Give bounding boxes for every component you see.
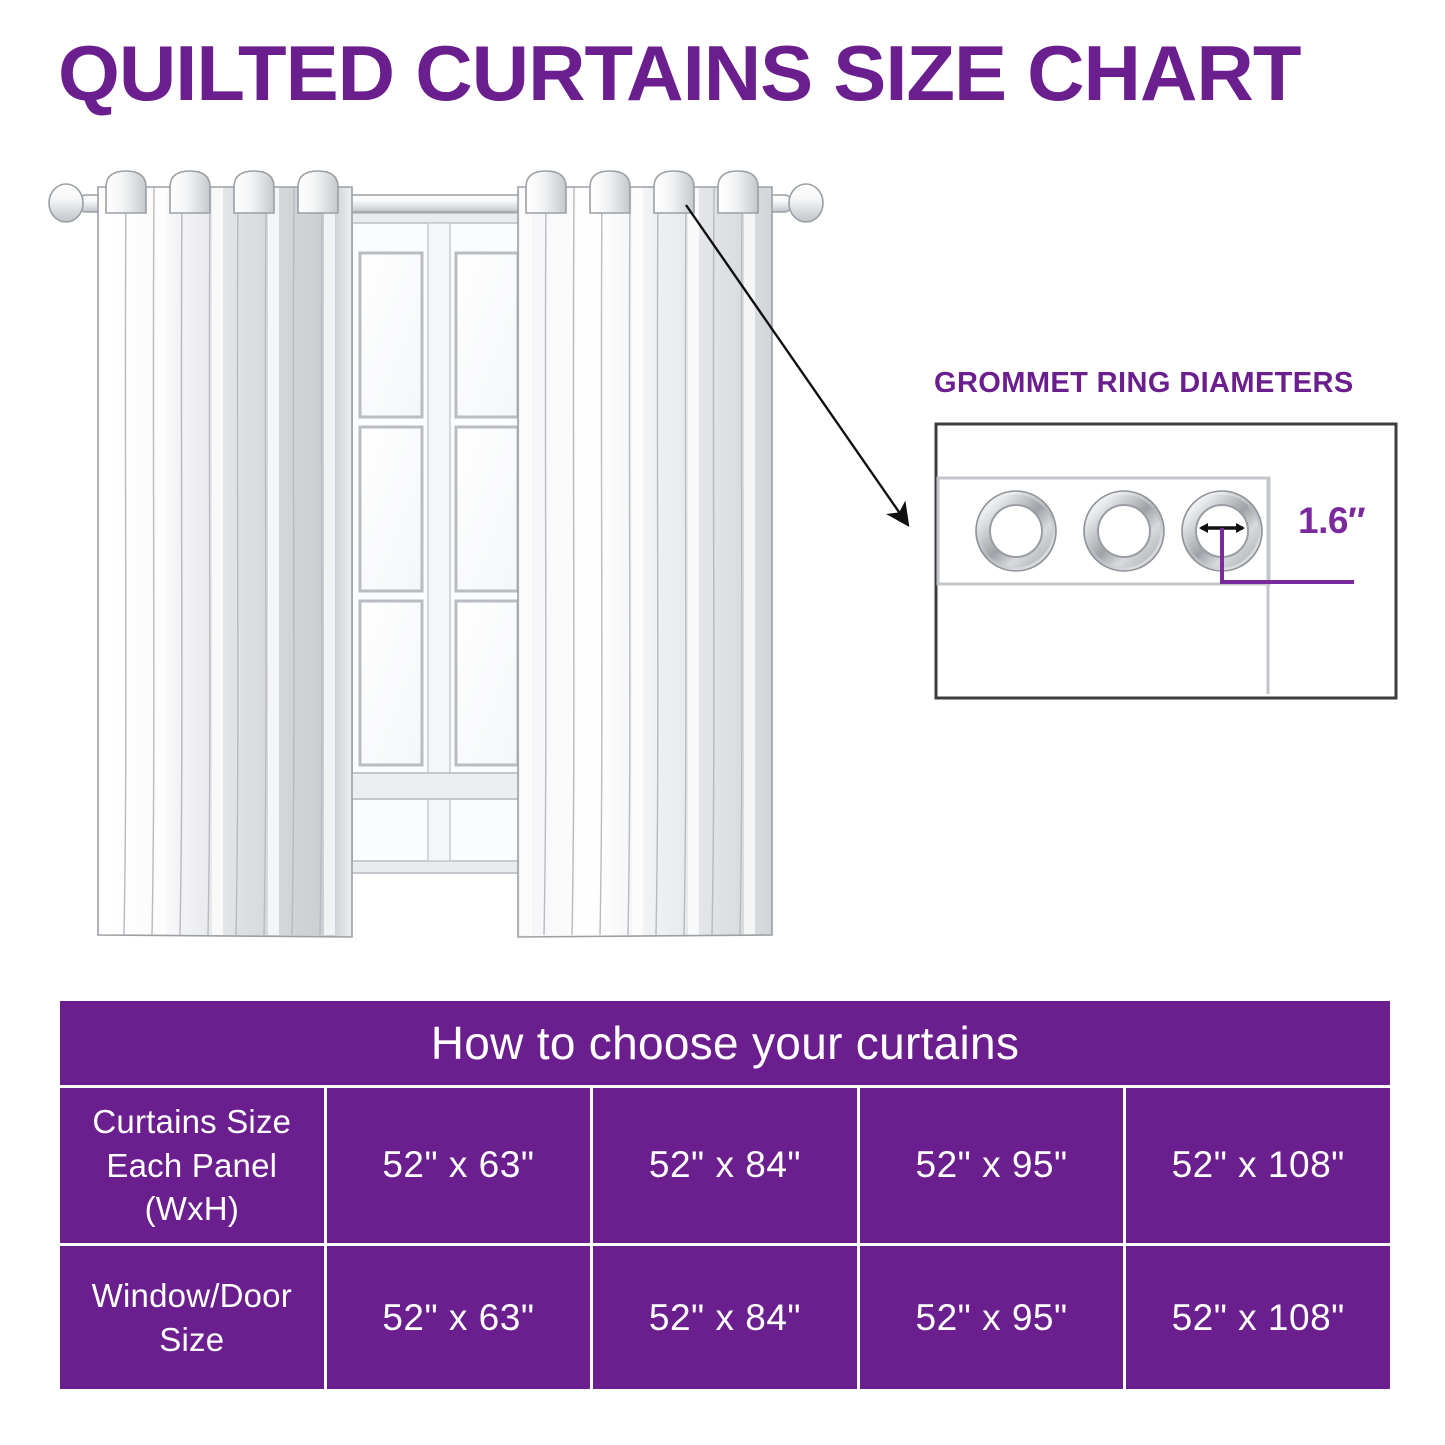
size-chart-table: How to choose your curtains Curtains Siz…: [57, 998, 1393, 1392]
grommet-ring-2: [1084, 491, 1164, 571]
cell-window-size-2: 52" x 84": [593, 1246, 857, 1389]
grommet-section-title: GROMMET RING DIAMETERS: [934, 367, 1354, 400]
window-graphic: [340, 213, 536, 873]
grommet-ring-1: [976, 491, 1056, 571]
table-row: Curtains Size Each Panel (WxH) 52" x 63"…: [60, 1088, 1390, 1243]
grommet-diameter-label: 1.6″: [1298, 500, 1365, 542]
grommet-diagram: [934, 422, 1398, 700]
cell-window-size-3: 52" x 95": [860, 1246, 1124, 1389]
cell-window-size-4: 52" x 108": [1126, 1246, 1390, 1389]
row-label-line: Size: [60, 1318, 324, 1362]
cell-curtain-size-2: 52" x 84": [593, 1088, 857, 1243]
curtain-panel-right: [518, 171, 772, 937]
table-title: How to choose your curtains: [60, 1001, 1390, 1085]
table-row: Window/Door Size 52" x 63" 52" x 84" 52"…: [60, 1246, 1390, 1389]
cell-curtain-size-4: 52" x 108": [1126, 1088, 1390, 1243]
curtain-panel-left: [98, 171, 352, 937]
row-label-line: Each Panel: [60, 1144, 324, 1188]
cell-curtain-size-1: 52" x 63": [327, 1088, 591, 1243]
cell-window-size-1: 52" x 63": [327, 1246, 591, 1389]
row-label-window-door-size: Window/Door Size: [60, 1246, 324, 1389]
row-label-curtain-size: Curtains Size Each Panel (WxH): [60, 1088, 324, 1243]
grommet-ring-section: GROMMET RING DIAMETERS: [900, 360, 1410, 710]
curtain-illustration: [40, 165, 830, 965]
row-label-line: Window/Door: [60, 1274, 324, 1318]
row-label-line: Curtains Size: [60, 1100, 324, 1144]
row-label-line: (WxH): [60, 1187, 324, 1231]
page-title: QUILTED CURTAINS SIZE CHART: [58, 28, 1425, 118]
cell-curtain-size-3: 52" x 95": [860, 1088, 1124, 1243]
table-title-row: How to choose your curtains: [60, 1001, 1390, 1085]
